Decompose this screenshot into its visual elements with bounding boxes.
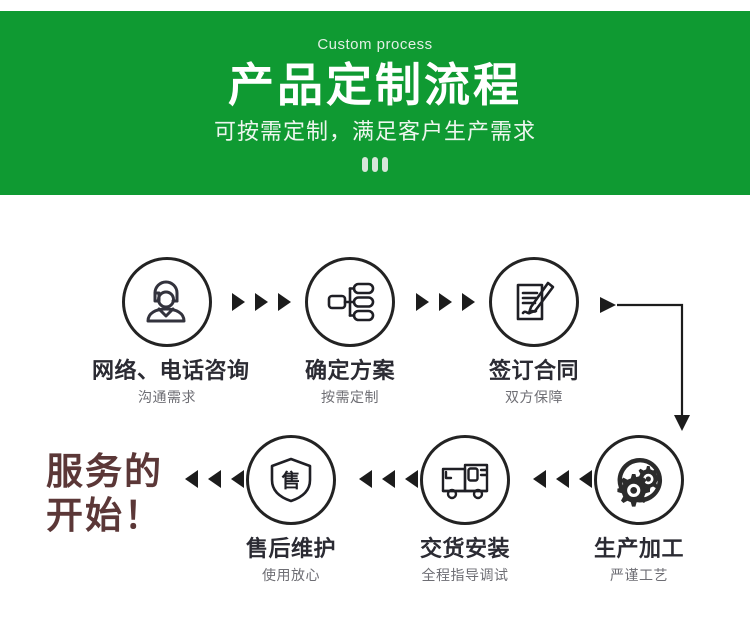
flow-step-title: 生产加工 <box>564 537 714 561</box>
banner-eyebrow: Custom process <box>317 37 432 52</box>
callout-line-1: 服务的 <box>46 450 163 494</box>
process-flow-diagram: 网络、电话咨询 沟通需求 确定方案 按需定制 <box>0 195 750 634</box>
flow-step-subtitle: 沟通需求 <box>92 390 242 405</box>
callout-line-2: 开始！ <box>46 494 163 538</box>
flow-step-subtitle: 全程指导调试 <box>390 568 540 583</box>
flow-step-title: 网络、电话咨询 <box>92 359 242 383</box>
arrow-left-icon <box>359 470 372 488</box>
page-banner: Custom process 产品定制流程 可按需定制，满足客户生产需求 <box>0 11 750 195</box>
flow-step-subtitle: 严谨工艺 <box>564 568 714 583</box>
separator-dots <box>362 157 388 172</box>
service-start-callout: 服务的 开始！ <box>46 450 163 537</box>
arrow-left-icon <box>533 470 546 488</box>
flow-step-title: 交货安装 <box>390 537 540 561</box>
contract-signing-icon <box>489 257 579 347</box>
svg-text:售: 售 <box>280 469 300 492</box>
flow-step-delivery[interactable]: 交货安装 全程指导调试 <box>390 435 540 584</box>
flow-step-subtitle: 按需定制 <box>275 390 425 405</box>
delivery-truck-icon <box>420 435 510 525</box>
shield-after-sales-icon: 售 <box>246 435 336 525</box>
flow-step-title: 签订合同 <box>459 359 609 383</box>
flow-step-title: 确定方案 <box>275 359 425 383</box>
flow-step-contract[interactable]: 签订合同 双方保障 <box>459 257 609 406</box>
banner-subtitle: 可按需定制，满足客户生产需求 <box>214 121 536 143</box>
flowchart-plan-icon <box>305 257 395 347</box>
page-title: 产品定制流程 <box>228 60 522 112</box>
flow-step-subtitle: 双方保障 <box>459 390 609 405</box>
flow-step-after-sales[interactable]: 售 售后维护 使用放心 <box>216 435 366 584</box>
separator-dot <box>382 157 388 172</box>
flow-step-consultation[interactable]: 网络、电话咨询 沟通需求 <box>92 257 242 406</box>
arrow-left-icon <box>185 470 198 488</box>
gears-production-icon <box>594 435 684 525</box>
separator-dot <box>362 157 368 172</box>
arrow-right-icon <box>439 293 452 311</box>
customer-service-agent-icon <box>122 257 212 347</box>
flow-step-plan[interactable]: 确定方案 按需定制 <box>275 257 425 406</box>
arrow-right-icon <box>416 293 429 311</box>
separator-dot <box>372 157 378 172</box>
flow-step-production[interactable]: 生产加工 严谨工艺 <box>564 435 714 584</box>
flow-step-title: 售后维护 <box>216 537 366 561</box>
flow-step-subtitle: 使用放心 <box>216 568 366 583</box>
arrow-right-icon <box>255 293 268 311</box>
elbow-arrow-down-icon <box>596 291 692 433</box>
arrow-right-icon <box>232 293 245 311</box>
